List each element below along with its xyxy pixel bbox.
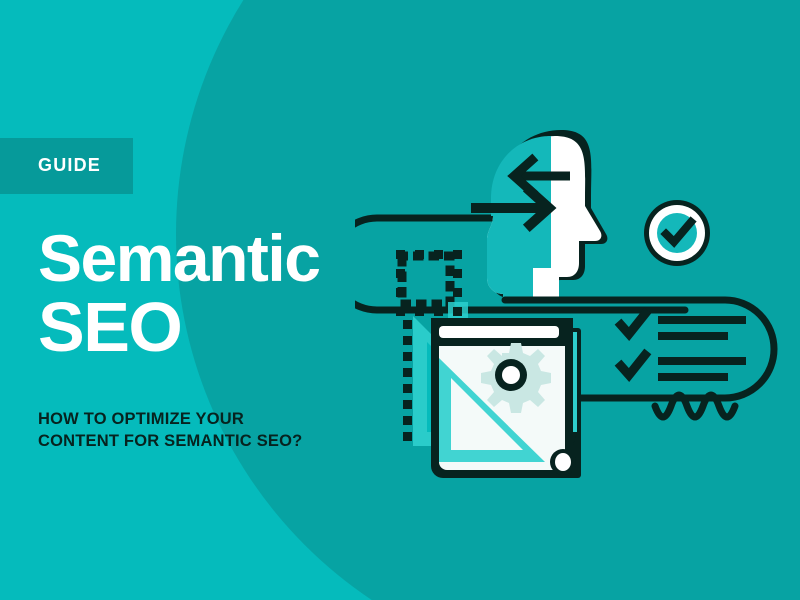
subtitle-line-1: HOW TO OPTIMIZE YOUR: [38, 408, 368, 430]
title-line-secondary: SEO: [38, 293, 378, 362]
checklist-icon: [621, 314, 746, 381]
ruler-strip-icon: [403, 320, 412, 441]
title-line-primary: Semantic: [38, 226, 378, 291]
guide-badge: GUIDE: [0, 138, 133, 194]
check-circle-icon: [644, 200, 710, 266]
semantic-seo-illustration: [355, 110, 795, 480]
document-paper-icon: [431, 318, 576, 478]
gear-icon: [481, 343, 551, 413]
page-subtitle: HOW TO OPTIMIZE YOUR CONTENT FOR SEMANTI…: [38, 408, 368, 453]
guide-badge-label: GUIDE: [38, 155, 101, 176]
subtitle-line-2: CONTENT FOR SEMANTIC SEO?: [38, 430, 368, 452]
page-title: Semantic SEO: [38, 226, 378, 361]
text-column: GUIDE Semantic SEO HOW TO OPTIMIZE YOUR …: [0, 0, 400, 600]
poster-canvas: GUIDE Semantic SEO HOW TO OPTIMIZE YOUR …: [0, 0, 800, 600]
